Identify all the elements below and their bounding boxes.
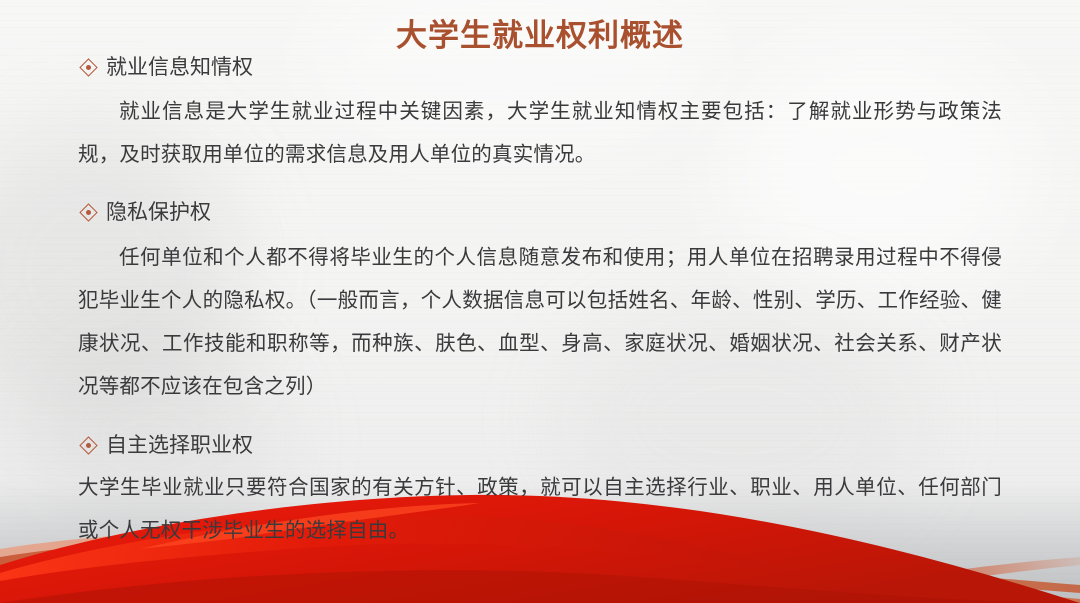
- section-paragraph-privacy: 任何单位和个人都不得将毕业生的个人信息随意发布和使用；用人单位在招聘录用过程中不…: [78, 236, 1002, 408]
- diamond-bullet-icon: [79, 436, 97, 454]
- slide-body: 就业信息知情权 就业信息是大学生就业过程中关键因素，大学生就业知情权主要包括：了…: [78, 57, 1002, 552]
- section-paragraph-career-choice: 大学生毕业就业只要符合国家的有关方针、政策，就可以自主选择行业、职业、用人单位、…: [78, 466, 1002, 552]
- section-heading-privacy: 隐私保护权: [82, 202, 1002, 223]
- section-heading-label: 就业信息知情权: [106, 57, 253, 78]
- slide-content: 大学生就业权利概述 就业信息知情权 就业信息是大学生就业过程中关键因素，大学生就…: [0, 0, 1080, 603]
- page-title: 大学生就业权利概述: [0, 10, 1080, 55]
- section-heading-label: 隐私保护权: [106, 202, 211, 223]
- slide-canvas: 大学生就业权利概述 就业信息知情权 就业信息是大学生就业过程中关键因素，大学生就…: [0, 0, 1080, 603]
- section-paragraph-employment-info: 就业信息是大学生就业过程中关键因素，大学生就业知情权主要包括：了解就业形势与政策…: [78, 90, 1002, 176]
- diamond-bullet-icon: [79, 58, 97, 76]
- section-heading-employment-info: 就业信息知情权: [82, 57, 1002, 78]
- diamond-bullet-icon: [79, 203, 97, 221]
